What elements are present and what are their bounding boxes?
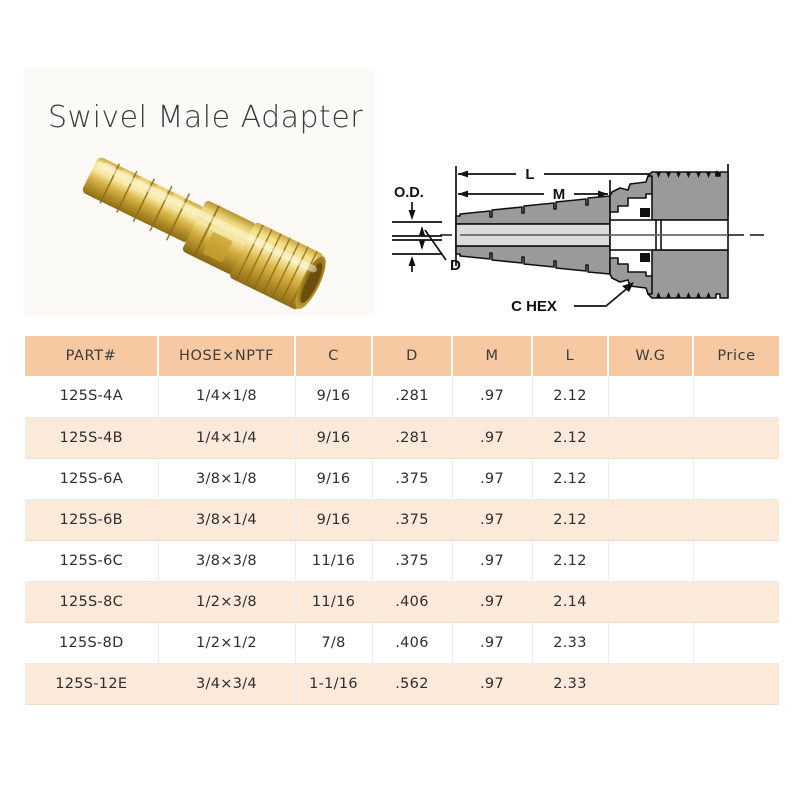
cell-l: 2.12 <box>532 499 608 540</box>
cell-m: .97 <box>452 376 532 417</box>
cell-m: .97 <box>452 499 532 540</box>
cell-wg <box>608 581 693 622</box>
cell-hose: 3/8×3/8 <box>158 540 295 581</box>
cell-part: 125S-6A <box>25 458 158 499</box>
dimension-label-M: M <box>553 186 566 203</box>
column-header-part[interactable]: PART# <box>25 336 158 376</box>
cell-d: .562 <box>372 663 452 704</box>
cell-part: 125S-4B <box>25 417 158 458</box>
cell-l: 2.33 <box>532 622 608 663</box>
cell-c: 9/16 <box>295 417 372 458</box>
cell-price <box>693 376 779 417</box>
cell-d: .281 <box>372 376 452 417</box>
cell-l: 2.12 <box>532 458 608 499</box>
cell-c: 11/16 <box>295 540 372 581</box>
cell-c: 7/8 <box>295 622 372 663</box>
specification-table: PART# HOSE×NPTF C D M L W.G Price 125S-4… <box>25 336 779 705</box>
hero-section: Swivel Male Adapter <box>0 0 800 330</box>
cell-part: 125S-6B <box>25 499 158 540</box>
column-header-l[interactable]: L <box>532 336 608 376</box>
cell-wg <box>608 540 693 581</box>
column-header-d[interactable]: D <box>372 336 452 376</box>
cell-m: .97 <box>452 458 532 499</box>
column-header-c[interactable]: C <box>295 336 372 376</box>
cell-c: 11/16 <box>295 581 372 622</box>
page-title: Swivel Male Adapter <box>48 100 363 135</box>
table-header-row: PART# HOSE×NPTF C D M L W.G Price <box>25 336 779 376</box>
cell-m: .97 <box>452 540 532 581</box>
cell-price <box>693 663 779 704</box>
column-header-price[interactable]: Price <box>693 336 779 376</box>
cell-d: .375 <box>372 540 452 581</box>
cell-price <box>693 458 779 499</box>
table-row[interactable]: 125S-4B1/4×1/49/16.281.972.12 <box>25 417 779 458</box>
cell-price <box>693 417 779 458</box>
cell-d: .281 <box>372 417 452 458</box>
product-photo <box>55 142 355 317</box>
cell-l: 2.12 <box>532 540 608 581</box>
column-header-wg[interactable]: W.G <box>608 336 693 376</box>
cell-d: .406 <box>372 581 452 622</box>
cell-part: 125S-6C <box>25 540 158 581</box>
column-header-hose[interactable]: HOSE×NPTF <box>158 336 295 376</box>
dimension-label-C-HEX: C HEX <box>511 298 557 315</box>
dimension-label-OD: O.D. <box>394 185 424 201</box>
column-header-m[interactable]: M <box>452 336 532 376</box>
cell-hose: 1/4×1/8 <box>158 376 295 417</box>
cell-part: 125S-8D <box>25 622 158 663</box>
technical-dimension-diagram: L M O.D. <box>384 150 784 320</box>
table-row[interactable]: 125S-8C1/2×3/811/16.406.972.14 <box>25 581 779 622</box>
cell-d: .375 <box>372 458 452 499</box>
cell-m: .97 <box>452 663 532 704</box>
cell-c: 9/16 <box>295 376 372 417</box>
product-spec-sheet: Swivel Male Adapter <box>0 0 800 800</box>
cell-wg <box>608 663 693 704</box>
table-row[interactable]: 125S-6B3/8×1/49/16.375.972.12 <box>25 499 779 540</box>
cell-m: .97 <box>452 622 532 663</box>
cell-hose: 3/4×3/4 <box>158 663 295 704</box>
cell-c: 1-1/16 <box>295 663 372 704</box>
cell-wg <box>608 376 693 417</box>
cell-price <box>693 622 779 663</box>
table-row[interactable]: 125S-12E3/4×3/41-1/16.562.972.33 <box>25 663 779 704</box>
cell-price <box>693 540 779 581</box>
cell-hose: 1/2×3/8 <box>158 581 295 622</box>
cell-hose: 1/4×1/4 <box>158 417 295 458</box>
table-header: PART# HOSE×NPTF C D M L W.G Price <box>25 336 779 376</box>
dimension-label-L: L <box>525 166 534 183</box>
cell-hose: 3/8×1/4 <box>158 499 295 540</box>
dimension-label-D: D <box>450 257 461 274</box>
cell-c: 9/16 <box>295 499 372 540</box>
cell-wg <box>608 458 693 499</box>
cell-l: 2.14 <box>532 581 608 622</box>
table-body: 125S-4A1/4×1/89/16.281.972.12125S-4B1/4×… <box>25 376 779 704</box>
cell-part: 125S-8C <box>25 581 158 622</box>
cell-l: 2.12 <box>532 417 608 458</box>
cell-wg <box>608 499 693 540</box>
table-row[interactable]: 125S-6C3/8×3/811/16.375.972.12 <box>25 540 779 581</box>
cell-price <box>693 499 779 540</box>
cell-hose: 1/2×1/2 <box>158 622 295 663</box>
cell-c: 9/16 <box>295 458 372 499</box>
cell-wg <box>608 417 693 458</box>
cell-d: .406 <box>372 622 452 663</box>
table-row[interactable]: 125S-6A3/8×1/89/16.375.972.12 <box>25 458 779 499</box>
cell-d: .375 <box>372 499 452 540</box>
cell-part: 125S-12E <box>25 663 158 704</box>
cell-wg <box>608 622 693 663</box>
cell-part: 125S-4A <box>25 376 158 417</box>
cell-m: .97 <box>452 581 532 622</box>
table-row[interactable]: 125S-8D1/2×1/27/8.406.972.33 <box>25 622 779 663</box>
cell-price <box>693 581 779 622</box>
cell-l: 2.33 <box>532 663 608 704</box>
cell-l: 2.12 <box>532 376 608 417</box>
cell-hose: 3/8×1/8 <box>158 458 295 499</box>
table-row[interactable]: 125S-4A1/4×1/89/16.281.972.12 <box>25 376 779 417</box>
cell-m: .97 <box>452 417 532 458</box>
